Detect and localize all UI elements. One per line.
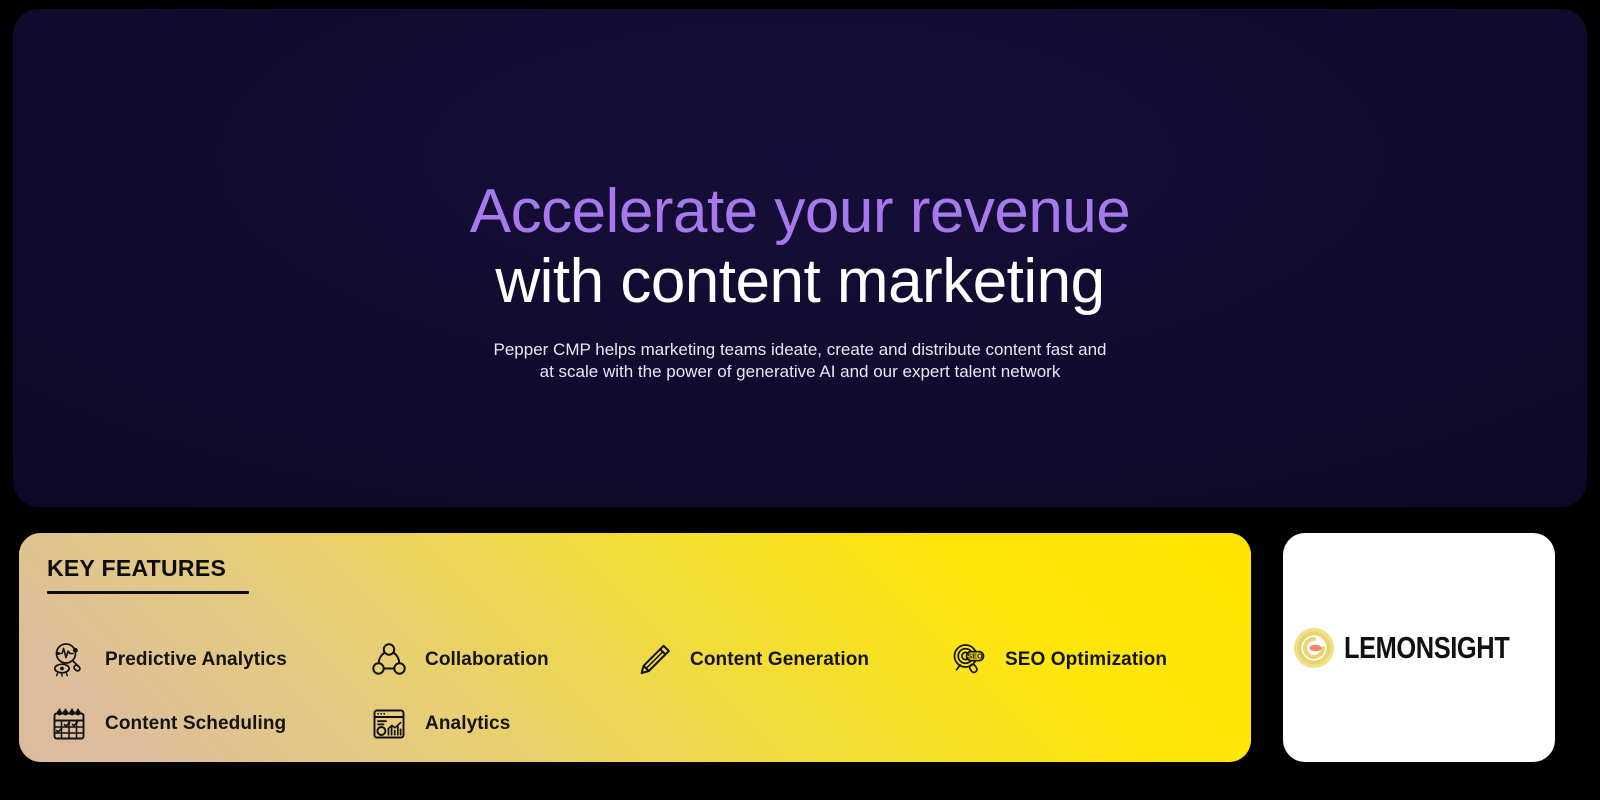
feature-item-content-generation[interactable]: Content Generation: [632, 638, 947, 682]
pencil-icon: [632, 638, 676, 682]
lemon-spiral-icon: [1293, 627, 1335, 669]
brand-logo-card: LEMONSIGHT: [1283, 533, 1555, 762]
feature-label: SEO Optimization: [1005, 649, 1167, 671]
key-features-heading: KEY FEATURES: [47, 555, 226, 582]
feature-label: Content Generation: [690, 649, 869, 671]
poster-canvas: Accelerate your revenue with content mar…: [0, 0, 1600, 800]
key-features-card: KEY FEATURES: [19, 533, 1251, 762]
feature-label: Predictive Analytics: [105, 649, 287, 671]
page-title: Accelerate your revenue with content mar…: [13, 177, 1587, 317]
share-network-icon: [367, 638, 411, 682]
feature-label: Content Scheduling: [105, 713, 286, 735]
seo-magnifier-icon: SEO: [947, 638, 991, 682]
hero-panel: Accelerate your revenue with content mar…: [13, 9, 1587, 507]
feature-row: Content Scheduling: [47, 692, 1251, 756]
calendar-check-icon: [47, 702, 91, 746]
hero-title-line-2: with content marketing: [13, 247, 1587, 317]
brand-wordmark: LEMONSIGHT: [1344, 630, 1509, 666]
hero-subtitle-line-2: at scale with the power of generative AI…: [13, 361, 1587, 383]
hero-title-line-1: Accelerate your revenue: [13, 177, 1587, 247]
feature-item-seo-optimization[interactable]: SEO SEO Optimization: [947, 638, 1247, 682]
key-features-underline: [47, 591, 249, 594]
feature-item-predictive-analytics[interactable]: Predictive Analytics: [47, 638, 367, 682]
feature-item-analytics[interactable]: Analytics: [367, 702, 632, 746]
feature-row: Predictive Analytics: [47, 628, 1251, 692]
feature-item-content-scheduling[interactable]: Content Scheduling: [47, 702, 367, 746]
hero-subtitle-line-1: Pepper CMP helps marketing teams ideate,…: [13, 339, 1587, 361]
feature-item-collaboration[interactable]: Collaboration: [367, 638, 632, 682]
key-features-body: KEY FEATURES: [19, 533, 1251, 756]
feature-label: Collaboration: [425, 649, 549, 671]
hero-content: Accelerate your revenue with content mar…: [13, 177, 1587, 383]
feature-grid: Predictive Analytics: [47, 628, 1251, 756]
svg-text:SEO: SEO: [967, 652, 983, 661]
magnifier-pulse-eye-icon: [47, 638, 91, 682]
hero-subtitle: Pepper CMP helps marketing teams ideate,…: [13, 339, 1587, 383]
analytics-dashboard-icon: [367, 702, 411, 746]
feature-label: Analytics: [425, 713, 510, 735]
